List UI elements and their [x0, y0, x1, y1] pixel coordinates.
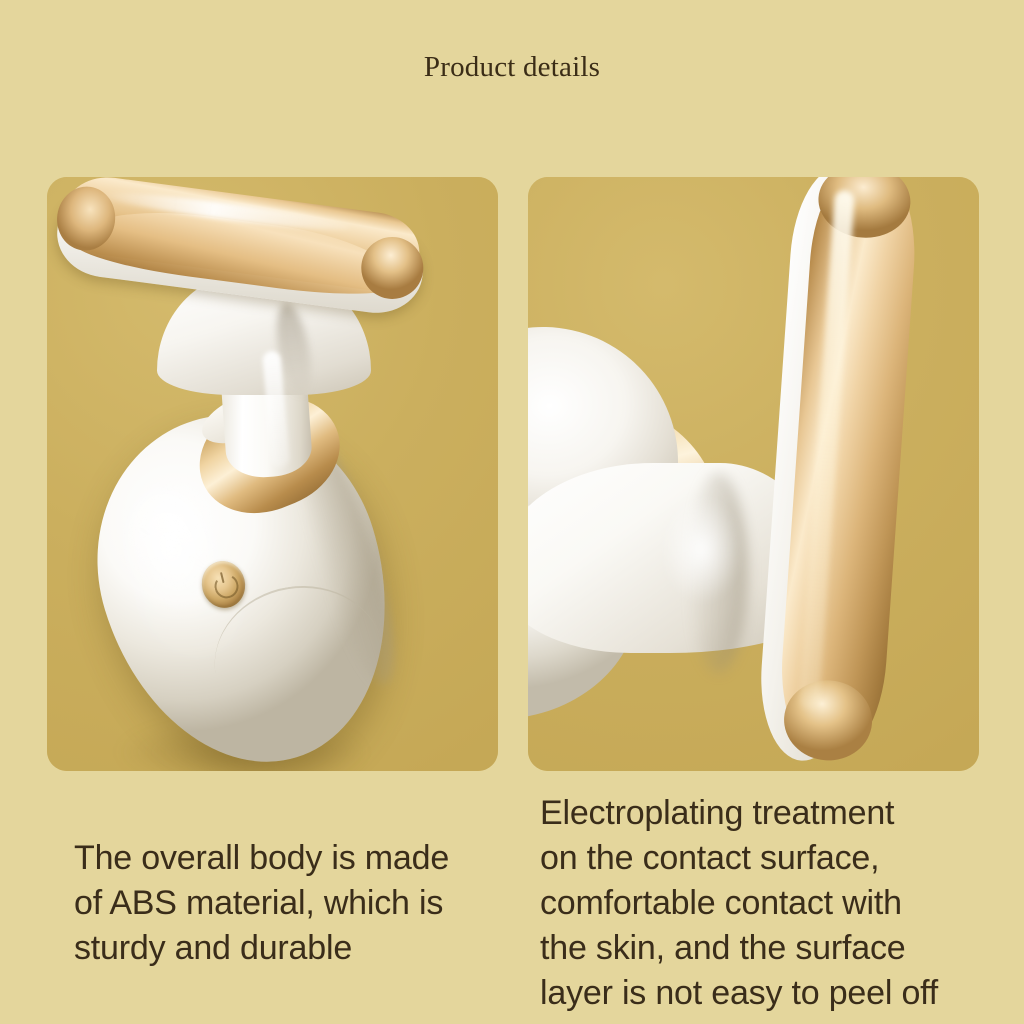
power-icon [212, 572, 241, 601]
caption-right-line-4: the skin, and the surface [540, 926, 1000, 971]
caption-left-line-3: sturdy and durable [74, 926, 514, 971]
caption-right-line-1: Electroplating treatment [540, 791, 1000, 836]
product-details-page: Product details [0, 0, 1024, 1024]
product-image-panel-left[interactable] [47, 177, 498, 771]
caption-right-line-5: layer is not easy to peel off [540, 971, 1000, 1016]
product-image-panel-right[interactable] [528, 177, 979, 771]
device-illustration-full [47, 177, 498, 771]
caption-right: Electroplating treatment on the contact … [540, 791, 1000, 1016]
caption-right-line-2: on the contact surface, [540, 836, 1000, 881]
page-title: Product details [0, 50, 1024, 84]
caption-left-line-2: of ABS material, which is [74, 881, 514, 926]
closeup-gold-contact-bar [769, 177, 923, 770]
caption-left-line-1: The overall body is made [74, 836, 514, 881]
device-illustration-closeup [528, 177, 979, 771]
caption-left: The overall body is made of ABS material… [74, 836, 514, 971]
caption-right-line-3: comfortable contact with [540, 881, 1000, 926]
closeup-neck-highlight [652, 497, 762, 647]
